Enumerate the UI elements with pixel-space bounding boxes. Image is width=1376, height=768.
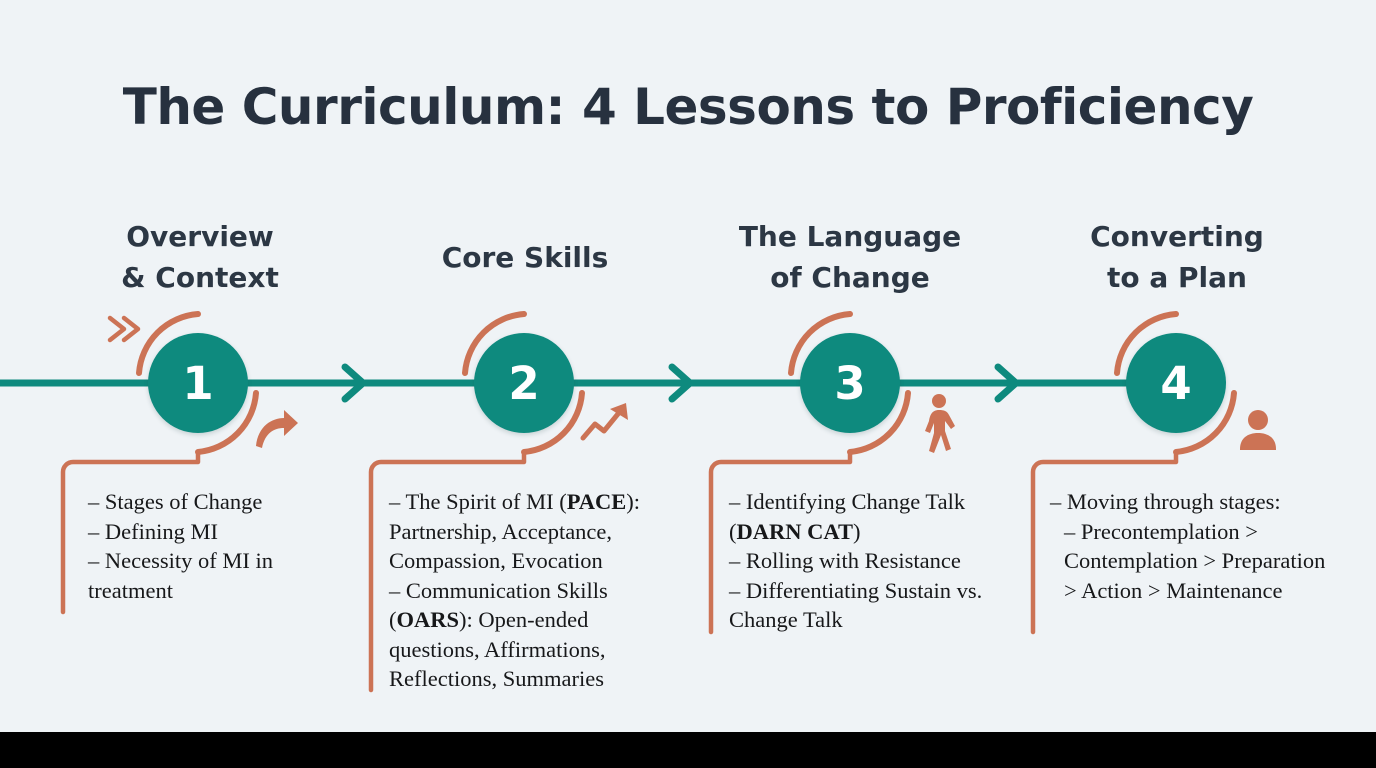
- arrow-right-icon-1-2: [345, 367, 363, 399]
- step-body-3: – Identifying Change Talk (DARN CAT) – R…: [729, 487, 1009, 635]
- list-item: – Precontemplation > Contemplation > Pre…: [1050, 517, 1340, 606]
- list-item: – Identifying Change Talk (DARN CAT): [729, 487, 1009, 546]
- walking-person-icon: [918, 393, 960, 460]
- double-chevron-right-icon: [104, 310, 144, 353]
- step-circle-1[interactable]: 1: [148, 333, 248, 433]
- step-heading-3: The Language of Change: [718, 216, 982, 298]
- user-person-icon: [1238, 408, 1278, 457]
- list-item: – Differentiating Sustain vs. Change Tal…: [729, 576, 1009, 635]
- list-item: – Stages of Change: [88, 487, 338, 517]
- step-heading-2: Core Skills: [395, 237, 655, 278]
- step-body-4: – Moving through stages: – Precontemplat…: [1050, 487, 1340, 605]
- trending-up-arrow-icon: [578, 398, 634, 451]
- step-circle-3[interactable]: 3: [800, 333, 900, 433]
- step-body-2: – The Spirit of MI (PACE): Partnership, …: [389, 487, 681, 694]
- step-body-1: – Stages of Change – Defining MI – Neces…: [88, 487, 338, 605]
- arrow-right-icon-2-3: [672, 367, 690, 399]
- slide-canvas: The Curriculum: 4 Lessons to Proficiency…: [0, 0, 1376, 768]
- arrow-right-icon-3-4: [998, 367, 1016, 399]
- step-heading-1: Overview & Context: [70, 216, 330, 298]
- list-item: – Defining MI: [88, 517, 338, 547]
- step-circle-4[interactable]: 4: [1126, 333, 1226, 433]
- page-title: The Curriculum: 4 Lessons to Proficiency: [0, 78, 1376, 136]
- list-item: – The Spirit of MI (PACE): Partnership, …: [389, 487, 681, 576]
- curved-arrow-icon: [252, 406, 300, 457]
- bottom-bar: [0, 732, 1376, 768]
- step-heading-4: Converting to a Plan: [1047, 216, 1307, 298]
- list-item: – Communication Skills (OARS): Open-ende…: [389, 576, 681, 694]
- step-circle-2[interactable]: 2: [474, 333, 574, 433]
- list-item: – Necessity of MI in treatment: [88, 546, 338, 605]
- list-item: – Moving through stages:: [1050, 487, 1340, 517]
- list-item: – Rolling with Resistance: [729, 546, 1009, 576]
